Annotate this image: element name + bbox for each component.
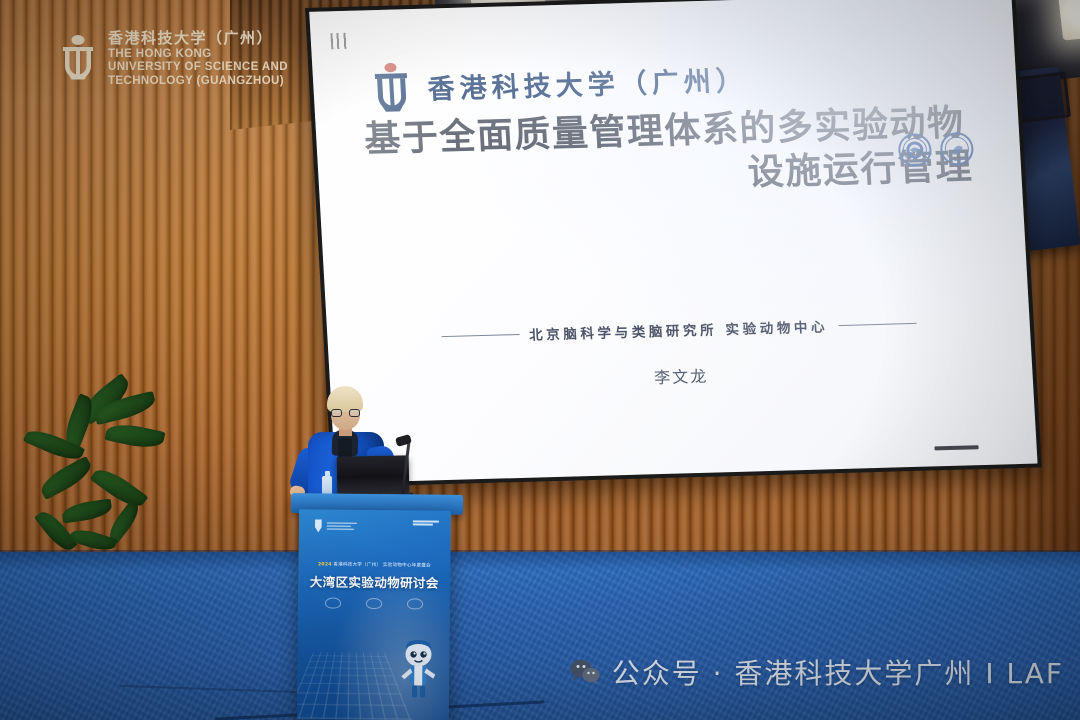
- podium-year: 2024: [318, 562, 332, 567]
- ceiling-light-panel: [1058, 0, 1080, 41]
- watermark: 公众号 · 香港科技大学广州 I LAF: [570, 652, 1064, 692]
- fish-icon: [366, 598, 382, 609]
- projection-screen: 香港科技大学（广州） 基于全面质量管理体系的多实验动物 设施运行管理: [305, 0, 1042, 487]
- venue-logo-cn: 香港科技大学（广州）: [108, 30, 288, 48]
- conference-photo-scene: 香港科技大学（广州） 基于全面质量管理体系的多实验动物 设施运行管理: [0, 0, 1080, 720]
- wechat-icon: [570, 659, 600, 685]
- slide-surface: 香港科技大学（广州） 基于全面质量管理体系的多实验动物 设施运行管理: [309, 0, 1037, 483]
- mouse-icon: [325, 597, 341, 608]
- podium-subtitle: 2024 香港科技大学（广州） 实验动物中心年度盛会: [306, 561, 442, 568]
- mascot-icon: [395, 638, 442, 700]
- hkust-seal-icon: [58, 34, 98, 82]
- slide-institution-seals: [897, 131, 975, 167]
- laptop-icon: [337, 455, 410, 494]
- hkust-gz-logo-icon: [313, 519, 357, 532]
- podium-animal-icons: [312, 597, 436, 609]
- partner-logo-icon: [413, 520, 439, 525]
- slide-brand-text: 香港科技大学（广州）: [426, 58, 748, 106]
- glasses-icon: [331, 409, 360, 417]
- affiliation-rule-right: [838, 322, 916, 325]
- slide-speaker-name: 李文龙: [329, 354, 1032, 398]
- watermark-text: 公众号 · 香港科技大学广州 I LAF: [612, 652, 1064, 692]
- stage-edge: [0, 550, 1080, 570]
- podium-title: 大湾区实验动物研讨会: [298, 571, 450, 592]
- podium-subtitle-text: 香港科技大学（广州） 实验动物中心年度盛会: [333, 563, 431, 569]
- stage-carpet: [0, 552, 1080, 720]
- slide-corner-mark-icon: [330, 33, 353, 50]
- rabbit-icon: [407, 598, 423, 609]
- venue-logo-en-3: TECHNOLOGY (GUANGZHOU): [108, 75, 288, 89]
- slide-affiliation-row: 北京脑科学与类脑研究所 实验动物中心: [327, 310, 1030, 350]
- venue-logo-en-2: UNIVERSITY OF SCIENCE AND: [108, 61, 288, 75]
- affiliation-rule-left: [441, 334, 519, 337]
- podium: 2024 香港科技大学（广州） 实验动物中心年度盛会 大湾区实验动物研讨会: [295, 493, 455, 720]
- slide-bottom-marker: [934, 445, 978, 450]
- hkust-seal-icon: [368, 61, 415, 114]
- venue-logo-en-1: THE HONG KONG: [108, 48, 288, 62]
- slide-affiliation: 北京脑科学与类脑研究所 实验动物中心: [528, 315, 828, 343]
- slide-brand: 香港科技大学（广州）: [368, 52, 749, 114]
- institute-seal-right-icon: [939, 131, 975, 166]
- podium-logo-row: [313, 519, 439, 533]
- institute-seal-left-icon: [897, 133, 933, 168]
- podium-banner: 2024 香港科技大学（广州） 实验动物中心年度盛会 大湾区实验动物研讨会: [297, 509, 451, 720]
- venue-wall-logo: 香港科技大学（广州） THE HONG KONG UNIVERSITY OF S…: [58, 30, 288, 88]
- slide-title: 基于全面质量管理体系的多实验动物 设施运行管理: [355, 101, 990, 206]
